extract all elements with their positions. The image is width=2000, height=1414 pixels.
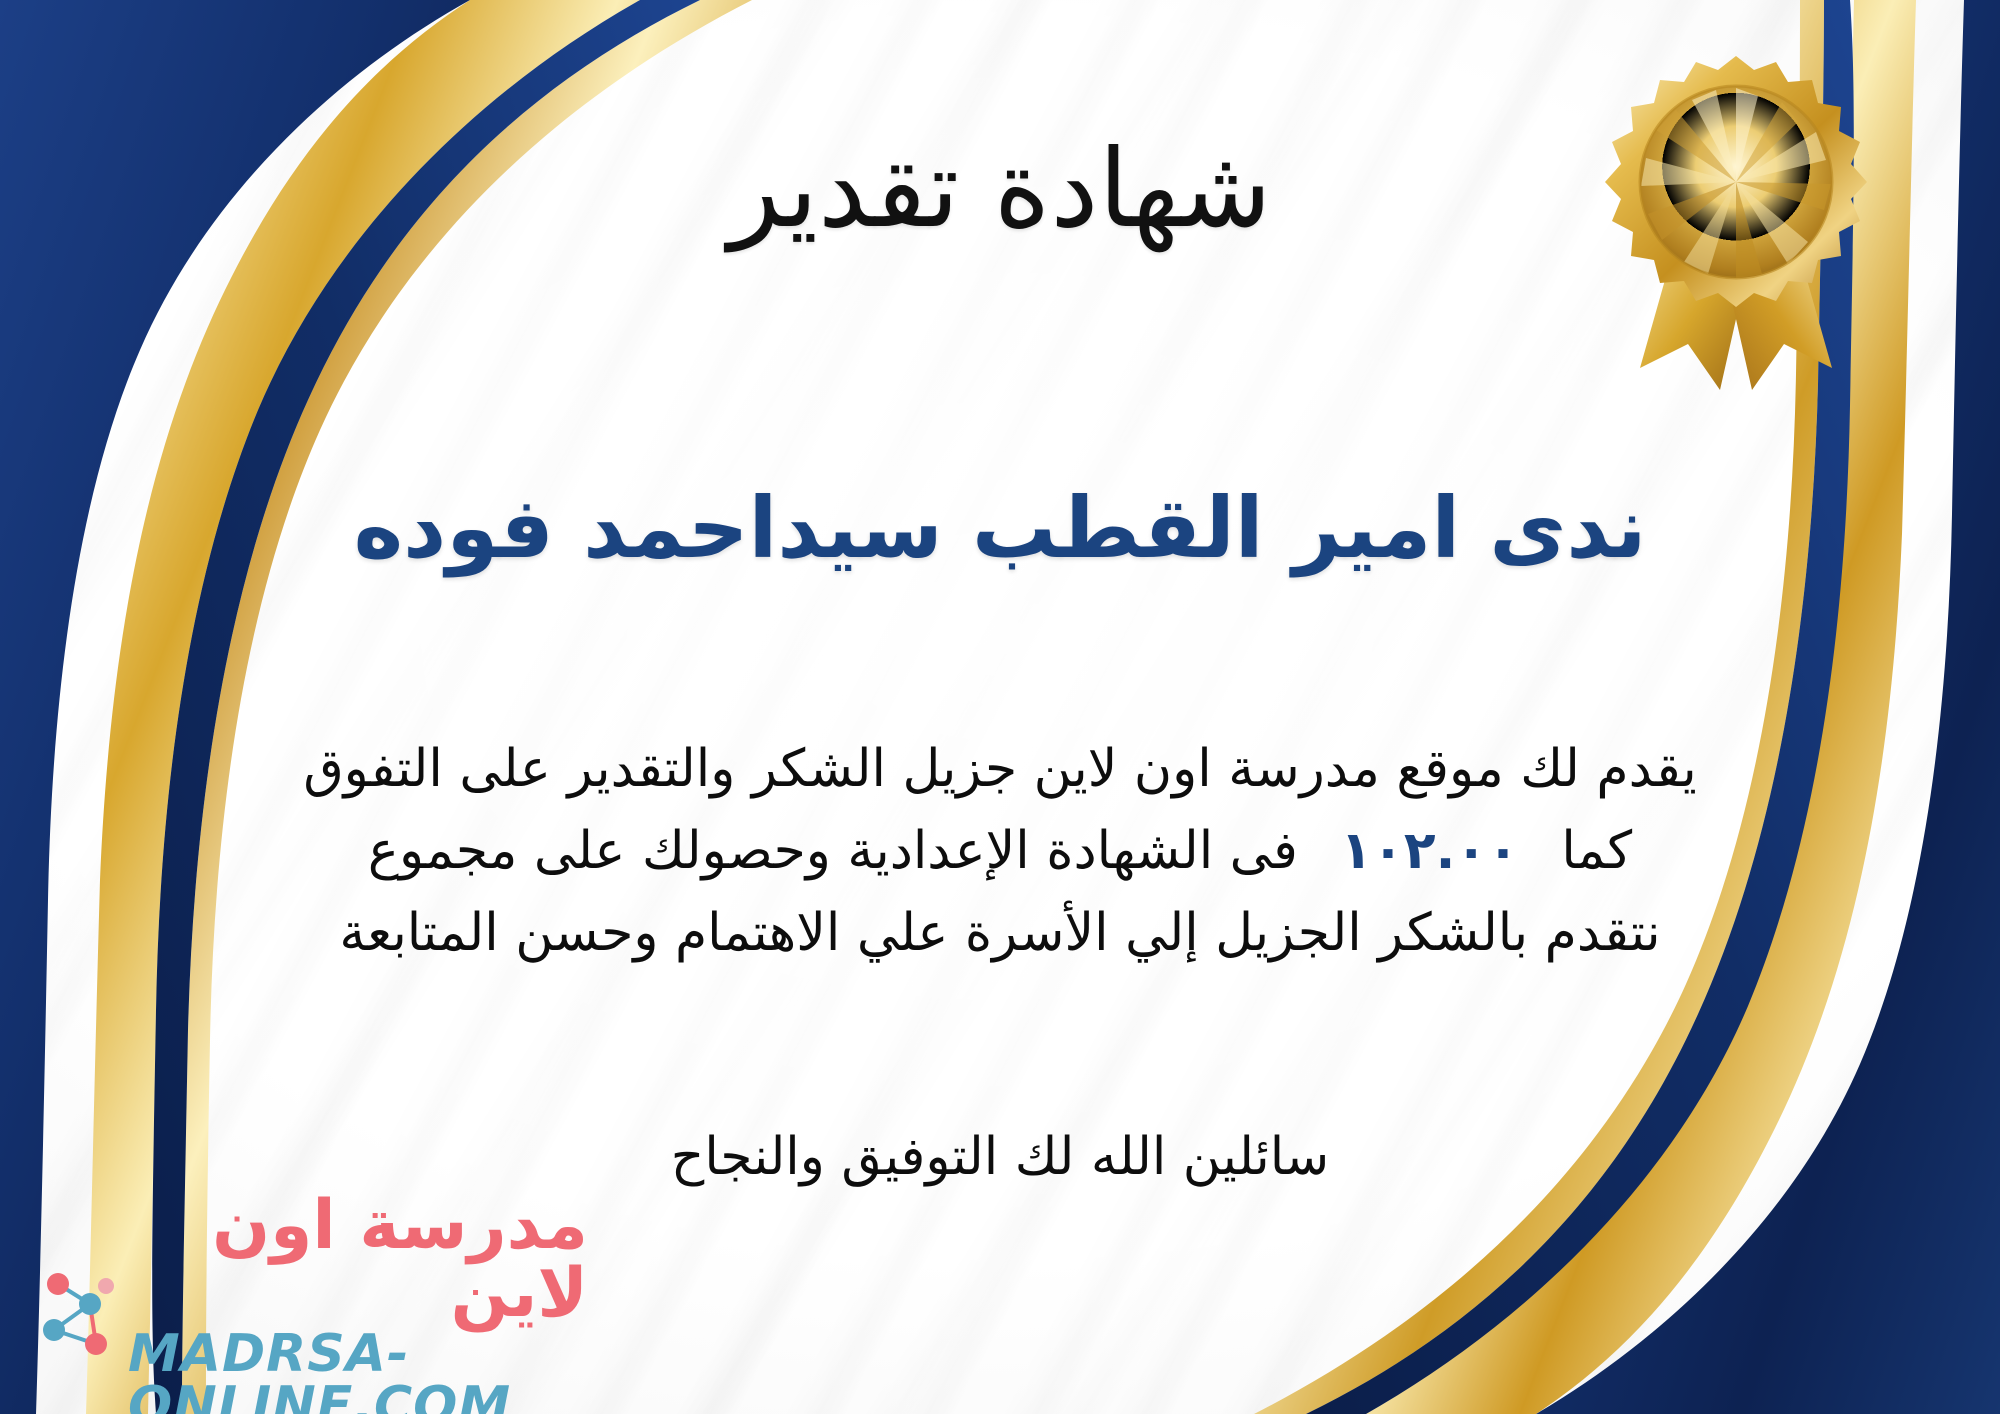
body-line-2-prefix: فى الشهادة الإعدادية وحصولك على مجموع	[368, 821, 1298, 881]
brand-logo[interactable]: مدرسة اون لاين MADRSA-ONLINE.COM	[28, 1232, 588, 1392]
body-line-2-suffix: كما	[1561, 821, 1632, 881]
body-line-3: نتقدم بالشكر الجزيل إلي الأسرة علي الاهت…	[60, 892, 1940, 974]
certificate-canvas: شهادة تقدير ندى امير القطب سيداحمد فوده …	[0, 0, 2000, 1414]
closing-wishes: سائلين الله لك التوفيق والنجاح	[0, 1118, 2000, 1196]
brand-text-group: مدرسة اون لاين MADRSA-ONLINE.COM	[128, 1192, 588, 1414]
brand-website-url[interactable]: MADRSA-ONLINE.COM	[128, 1328, 588, 1414]
certificate-body: يقدم لك موقع مدرسة اون لاين جزيل الشكر و…	[60, 728, 1940, 974]
body-line-1: يقدم لك موقع مدرسة اون لاين جزيل الشكر و…	[60, 728, 1940, 810]
recipient-name: ندى امير القطب سيداحمد فوده	[0, 478, 2000, 579]
brand-arabic-name: مدرسة اون لاين	[128, 1192, 588, 1328]
body-line-2: كما ١٠٢.٠٠ فى الشهادة الإعدادية وحصولك ع…	[60, 810, 1940, 892]
network-nodes-icon	[28, 1258, 120, 1366]
total-grade-value: ١٠٢.٠٠	[1314, 821, 1544, 881]
certificate-title: شهادة تقدير	[0, 128, 2000, 252]
